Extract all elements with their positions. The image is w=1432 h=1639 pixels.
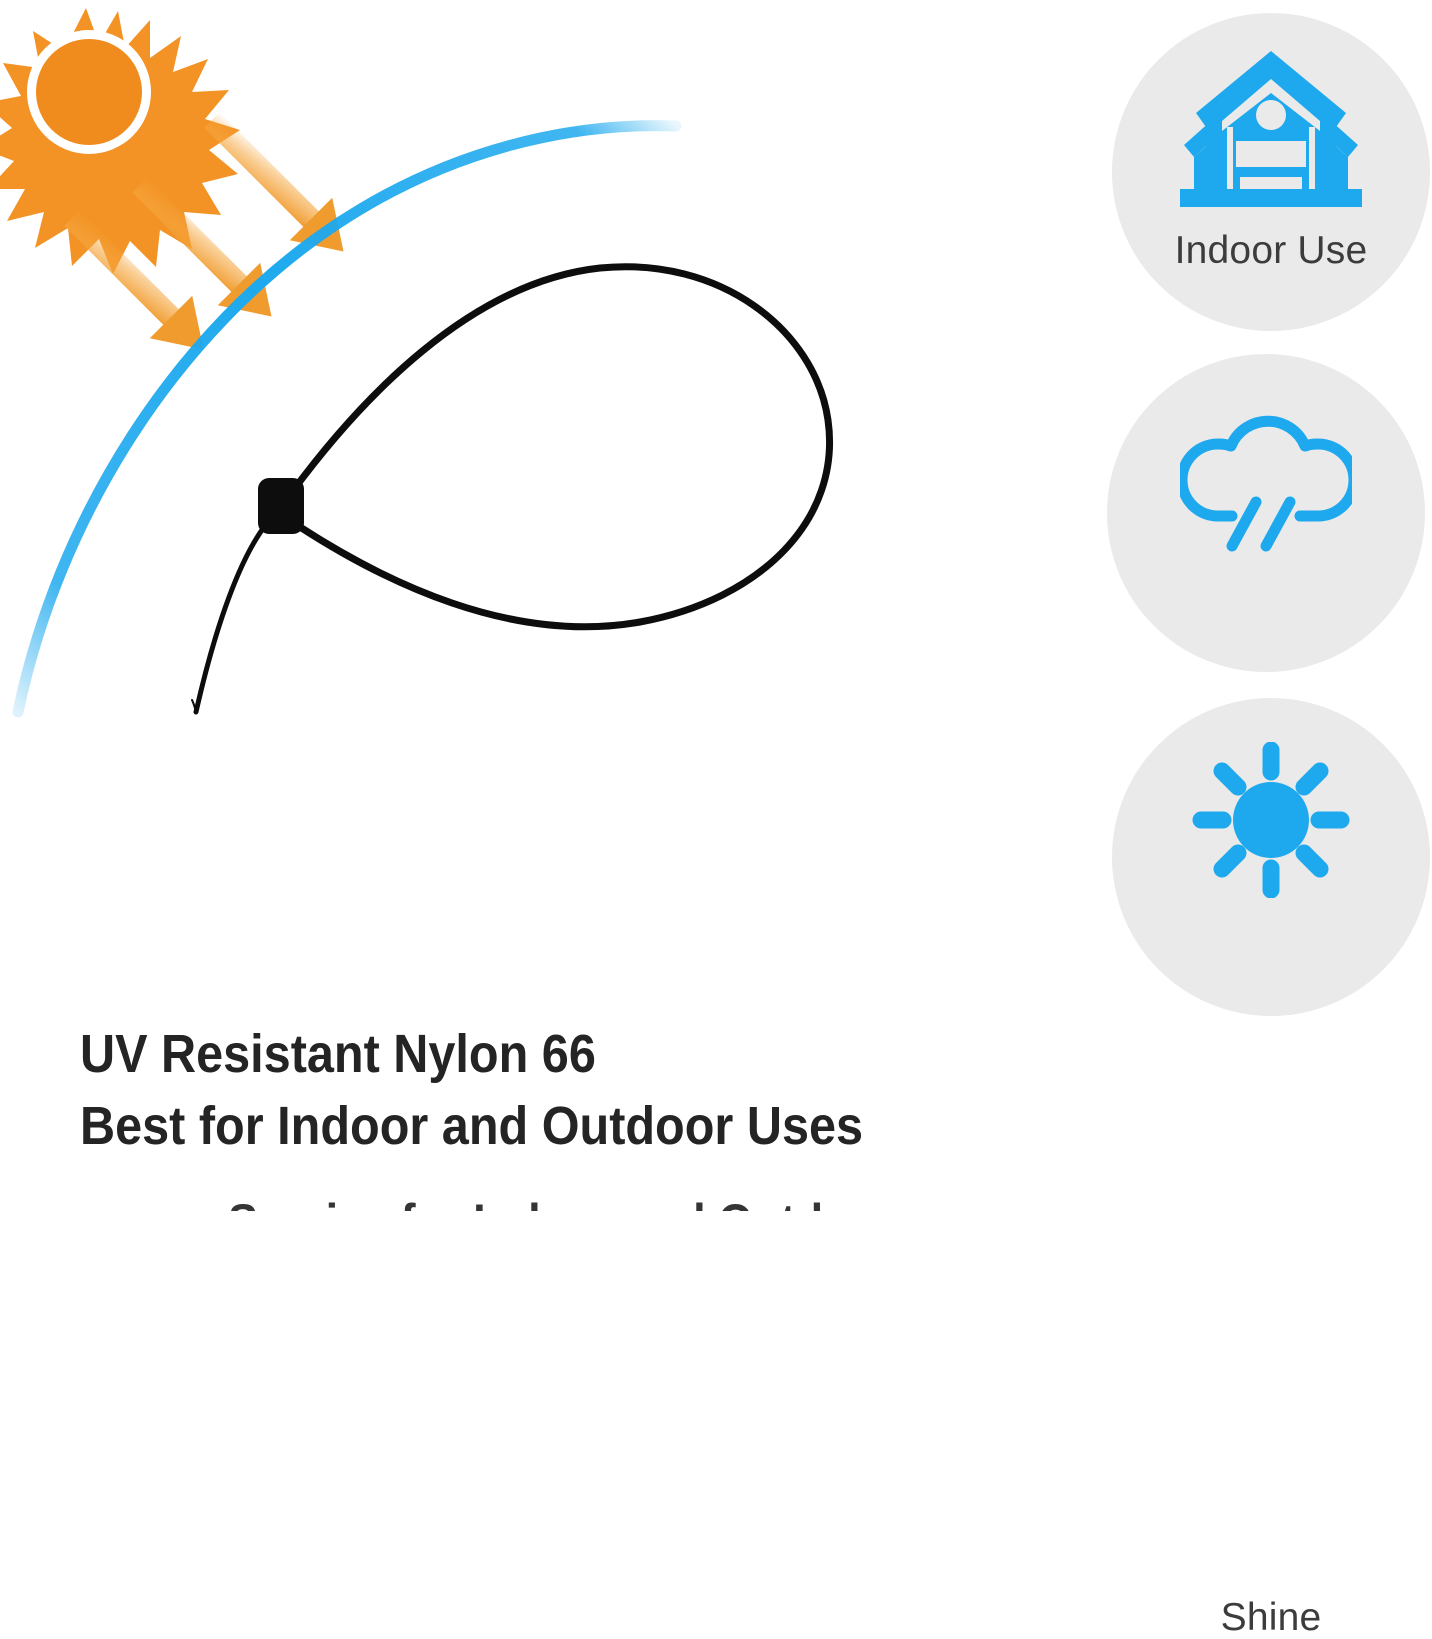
headline-line-3-cutoff: Service for Indoor and Outdoor xyxy=(228,1197,1038,1211)
badge-indoor-use[interactable]: Indoor Use xyxy=(1112,13,1430,331)
page-headline: UV Resistant Nylon 66 Best for Indoor an… xyxy=(80,1018,980,1162)
badge-rain[interactable]: Rain xyxy=(1107,354,1425,672)
badge-label-shine: Shine xyxy=(1112,1598,1430,1637)
infographic-canvas: Indoor Use Rain Shine UV xyxy=(0,0,1432,1211)
badge-label-indoor-use: Indoor Use xyxy=(1112,231,1430,270)
sun-disc xyxy=(36,39,142,145)
rain-cloud-icon xyxy=(1180,406,1352,556)
sun-icon xyxy=(1191,742,1351,898)
cable-tie-icon xyxy=(192,267,830,712)
headline-line-1: UV Resistant Nylon 66 xyxy=(80,1018,980,1090)
headline-line-2: Best for Indoor and Outdoor Uses xyxy=(80,1090,980,1162)
uv-resistance-illustration xyxy=(0,0,1000,790)
badge-shine[interactable]: Shine xyxy=(1112,698,1430,1016)
house-icon xyxy=(1180,49,1362,209)
